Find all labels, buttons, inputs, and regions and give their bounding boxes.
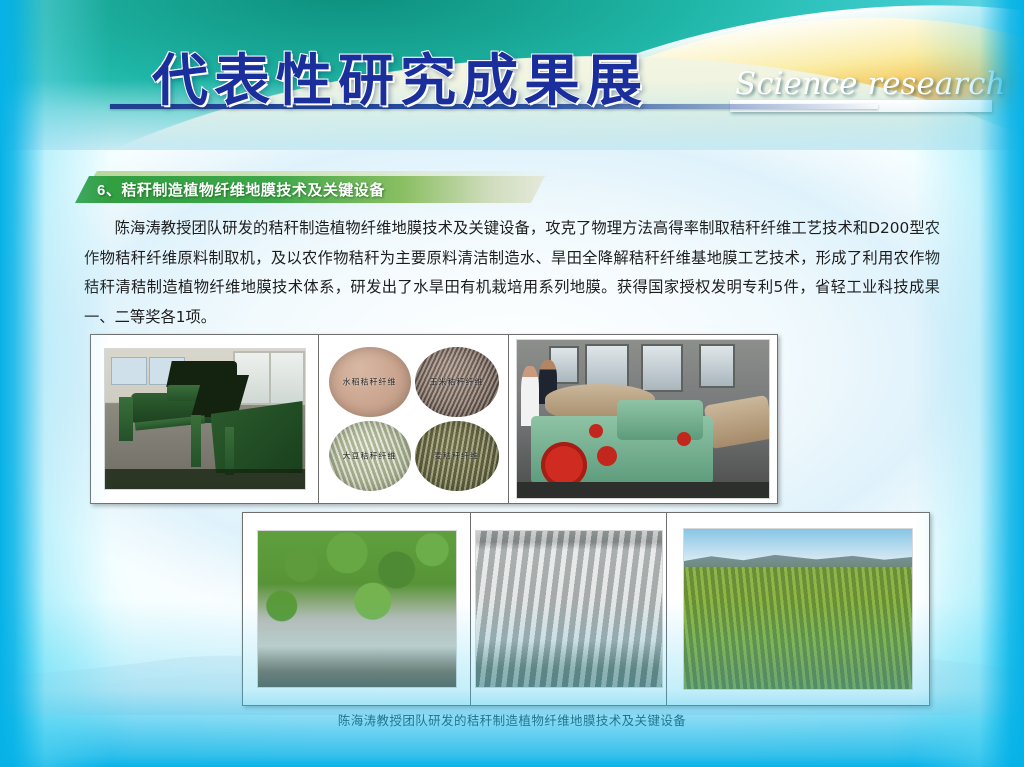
sample-label-1: 水稻秸秆纤维 [329,377,411,388]
section-banner: 6、秸秆制造植物纤维地膜技术及关键设备 [75,176,545,203]
straw-fiber-extraction-machine-photo [104,348,306,490]
sample-dish-2: 玉米秸秆纤维 [415,347,499,417]
photo-cell-paper-machine [509,335,777,503]
photo-cell-vegetable-field [243,513,471,705]
photo-cell-machine [91,335,319,503]
page-title: 代表性研究成果展 [152,36,648,117]
sample-label-2: 玉米秸秆纤维 [415,377,499,388]
paper-making-machine-photo [516,339,770,499]
sample-dish-1: 水稻秸秆纤维 [329,347,411,417]
sample-dish-4: 麦秸秆纤维 [415,421,499,491]
sample-label-3: 大豆秸秆纤维 [329,451,411,462]
photo-cell-covered-field [471,513,667,705]
rice-paddy-field-photo [683,528,913,690]
photo-cell-samples: 水稻秸秆纤维 玉米秸秆纤维 大豆秸秆纤维 麦秸秆纤维 [319,335,509,503]
sample-label-4: 麦秸秆纤维 [415,451,499,462]
page-header: 代表性研究成果展 Science research [0,0,1024,150]
figure-caption: 陈海涛教授团队研发的秸秆制造植物纤维地膜技术及关键设备 [0,710,1024,729]
sample-dish-3: 大豆秸秆纤维 [329,421,411,491]
photo-panel-top: 水稻秸秆纤维 玉米秸秆纤维 大豆秸秆纤维 麦秸秆纤维 [90,334,778,504]
section-title: 6、秸秆制造植物纤维地膜技术及关键设备 [97,179,385,200]
fiber-sample-dishes-photo: 水稻秸秆纤维 玉米秸秆纤维 大豆秸秆纤维 麦秸秆纤维 [324,342,504,496]
page-title-english: Science research [735,66,1005,102]
slide-root: 代表性研究成果展 Science research 6、秸秆制造植物纤维地膜技术… [0,0,1024,767]
photo-panel-bottom [242,512,930,706]
mulch-film-vegetable-field-photo [257,530,457,688]
body-paragraph: 陈海涛教授团队研发的秸秆制造植物纤维地膜技术及关键设备，攻克了物理方法高得率制取… [84,214,940,332]
mulch-film-covered-field-photo [475,530,663,688]
photo-cell-rice-field [667,513,929,705]
